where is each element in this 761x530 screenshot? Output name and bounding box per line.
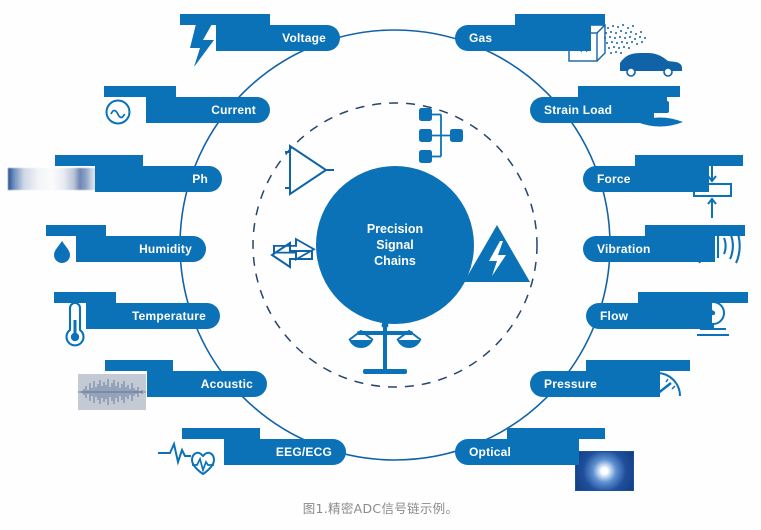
pill-body: Temperature: [86, 303, 220, 329]
pill-tab: [645, 225, 745, 236]
pill-body: Humidity: [76, 236, 206, 262]
figure-canvas: Precision Signal Chains Voltage Current …: [0, 0, 761, 530]
balance-scale-icon: [349, 322, 421, 374]
pill-tab: [104, 86, 176, 97]
sensor-label-force: Force: [597, 173, 631, 185]
pill-tab: [55, 155, 143, 166]
figure-caption: 图1.精密ADC信号链示例。: [0, 498, 761, 517]
sensor-label-flow: Flow: [600, 310, 628, 322]
pill-tab: [515, 14, 605, 25]
pill-tab: [54, 292, 116, 303]
sensor-label-current: Current: [211, 104, 256, 116]
sensor-label-gas: Gas: [469, 32, 492, 44]
sensor-label-strainload: Strain Load: [544, 104, 612, 116]
sensor-label-vibration: Vibration: [597, 243, 651, 255]
sensor-label-humidity: Humidity: [139, 243, 192, 255]
pill-body: Gas: [455, 25, 591, 51]
pill-body: Force: [583, 166, 709, 192]
sensor-label-ph: Ph: [192, 173, 208, 185]
pill-tab: [578, 86, 680, 97]
sensor-label-pressure: Pressure: [544, 378, 597, 390]
pill-body: Acoustic: [147, 371, 267, 397]
pill-body: Flow: [586, 303, 712, 329]
pill-body: Voltage: [216, 25, 340, 51]
pill-tab: [105, 360, 173, 371]
center-line-1: Precision: [367, 221, 423, 237]
pill-tab: [46, 225, 106, 236]
sensor-label-voltage: Voltage: [282, 32, 326, 44]
sensor-label-optical: Optical: [469, 446, 511, 458]
pill-body: Ph: [95, 166, 222, 192]
network-tree-icon: [419, 108, 463, 163]
pill-body: EEG/ECG: [224, 439, 346, 465]
pill-tab: [635, 155, 743, 166]
pill-body: Current: [146, 97, 270, 123]
pill-tab: [507, 428, 605, 439]
pill-tab: [180, 14, 270, 25]
pill-tab: [182, 428, 260, 439]
sensor-label-temperature: Temperature: [132, 310, 206, 322]
pill-body: Strain Load: [530, 97, 654, 123]
sensor-label-acoustic: Acoustic: [201, 378, 253, 390]
pill-tab: [638, 292, 748, 303]
high-voltage-warning-icon: [464, 225, 530, 282]
center-line-3: Chains: [374, 253, 416, 269]
pill-body: Optical: [455, 439, 579, 465]
data-transfer-icon: [272, 239, 314, 267]
sensor-label-eegecg: EEG/ECG: [276, 446, 332, 458]
center-line-2: Signal: [376, 237, 414, 253]
center-disc: Precision Signal Chains: [316, 166, 474, 324]
pill-body: Pressure: [530, 371, 660, 397]
pill-body: Vibration: [583, 236, 715, 262]
pill-tab: [586, 360, 690, 371]
amplifier-triangle-icon: [285, 146, 334, 194]
